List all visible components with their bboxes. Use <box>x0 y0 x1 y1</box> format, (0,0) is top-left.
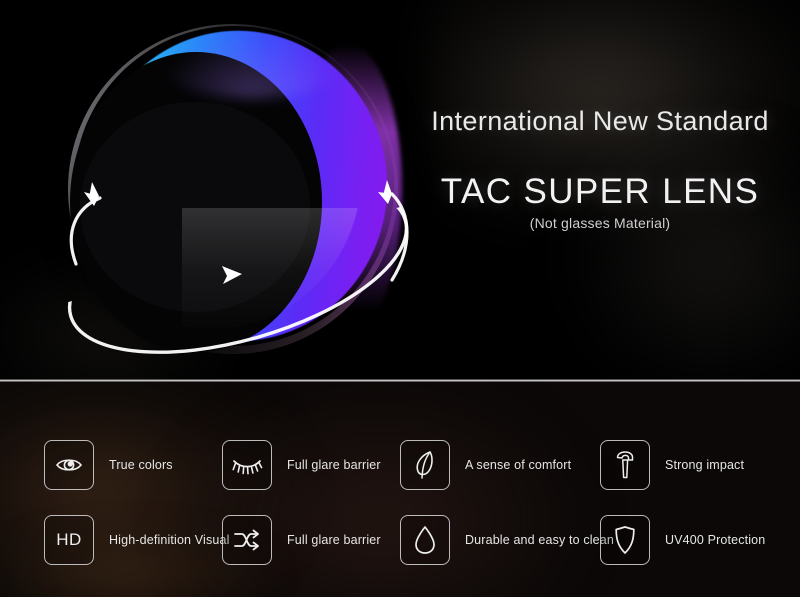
feature-item-easy-clean[interactable]: Durable and easy to clean <box>400 515 614 565</box>
eyelash-icon <box>222 440 272 490</box>
feature-item-glare-barrier-2[interactable]: Full glare barrier <box>222 515 381 565</box>
hd-label: HD <box>56 530 82 550</box>
feature-label: True colors <box>109 458 173 472</box>
arrow-right-icon <box>222 266 242 284</box>
hero-title: International New Standard <box>420 106 780 137</box>
hammer-icon <box>600 440 650 490</box>
feature-item-comfort[interactable]: A sense of comfort <box>400 440 571 490</box>
shield-icon <box>600 515 650 565</box>
product-banner: International New Standard TAC SUPER LEN… <box>0 0 800 597</box>
arrow-up-right-icon <box>378 180 392 204</box>
hero-note: (Not glasses Material) <box>420 215 780 231</box>
feature-item-strong-impact[interactable]: Strong impact <box>600 440 744 490</box>
lens-disc-icon <box>62 18 422 368</box>
feature-label: Strong impact <box>665 458 744 472</box>
feature-label: Full glare barrier <box>287 458 381 472</box>
feature-item-glare-barrier-1[interactable]: Full glare barrier <box>222 440 381 490</box>
shuffle-icon <box>222 515 272 565</box>
feature-item-true-colors[interactable]: True colors <box>44 440 173 490</box>
feather-icon <box>400 440 450 490</box>
feature-label: High-definition Visual <box>109 533 230 547</box>
hero-section: International New Standard TAC SUPER LEN… <box>0 0 800 381</box>
feature-label: A sense of comfort <box>465 458 571 472</box>
feature-item-uv400[interactable]: UV400 Protection <box>600 515 765 565</box>
eye-icon <box>44 440 94 490</box>
features-section: True colors Full glare barrier <box>0 382 800 597</box>
feature-item-hd-visual[interactable]: HD High-definition Visual <box>44 515 230 565</box>
feature-label: Full glare barrier <box>287 533 381 547</box>
hd-text-icon: HD <box>44 515 94 565</box>
water-drop-icon <box>400 515 450 565</box>
orbit-ring-icon <box>62 18 422 368</box>
hero-product-name: TAC SUPER LENS <box>420 172 780 212</box>
feature-label: UV400 Protection <box>665 533 765 547</box>
feature-label: Durable and easy to clean <box>465 533 614 547</box>
arrow-left-icon <box>84 182 99 206</box>
smoke-texture <box>560 120 800 381</box>
